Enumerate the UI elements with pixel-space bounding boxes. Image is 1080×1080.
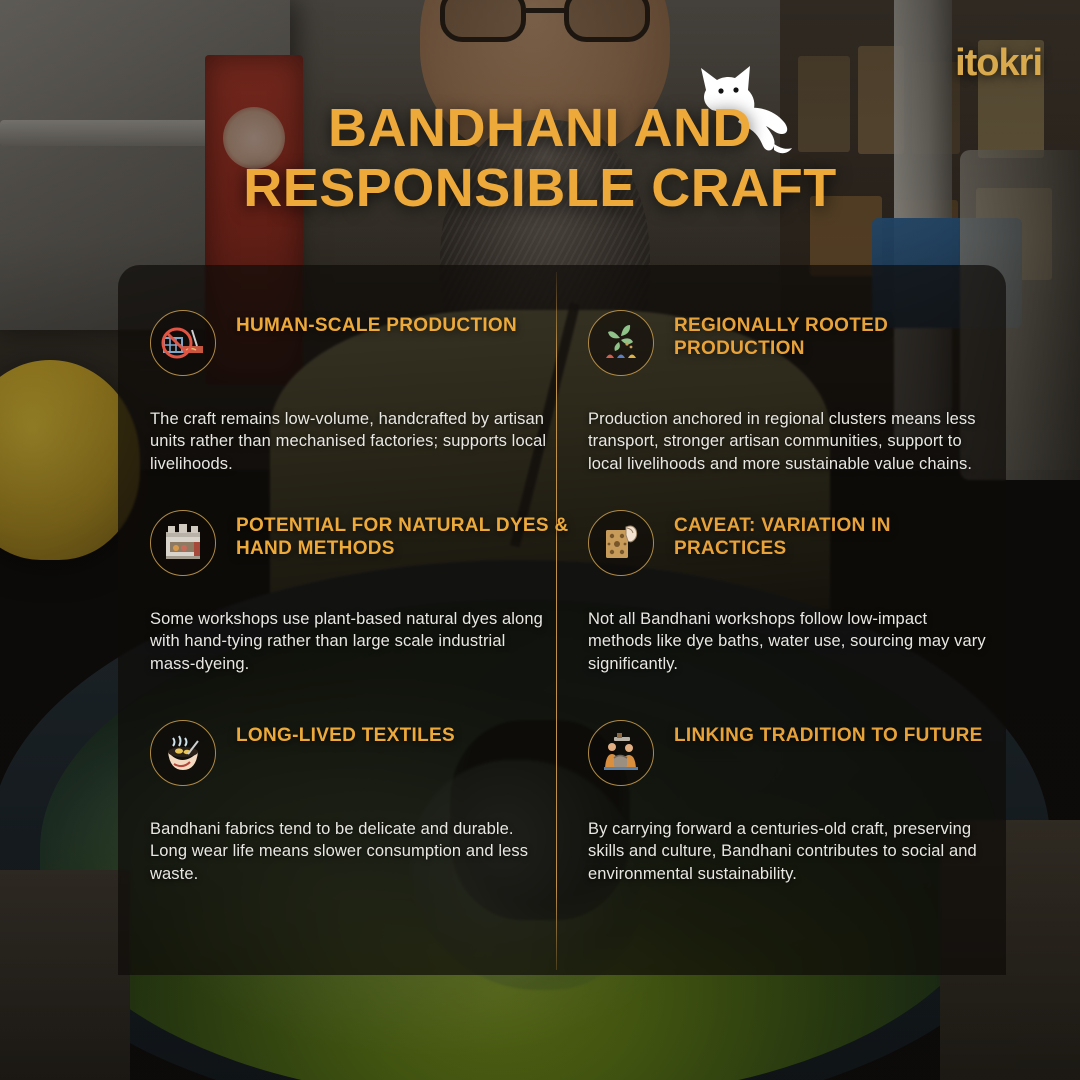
content-grid: HUMAN-SCALE PRODUCTION The craft remains… <box>118 265 1006 975</box>
two-artisans-working-icon <box>588 720 654 786</box>
item-title: POTENTIAL FOR NATURAL DYES & HAND METHOD… <box>236 510 570 560</box>
hand-holding-patterned-fabric-icon <box>588 510 654 576</box>
workshop-building-icon <box>150 510 216 576</box>
list-item: CAVEAT: VARIATION IN PRACTICES Not all B… <box>588 510 1008 675</box>
list-item: POTENTIAL FOR NATURAL DYES & HAND METHOD… <box>150 510 570 675</box>
page-title-line-2: RESPONSIBLE CRAFT <box>0 158 1080 218</box>
no-factory-icon <box>150 310 216 376</box>
item-header: LONG-LIVED TEXTILES <box>150 720 570 792</box>
right-column: REGIONALLY ROOTED PRODUCTION Production … <box>562 265 1006 975</box>
item-body: Some workshops use plant-based natural d… <box>150 608 550 675</box>
item-header: REGIONALLY ROOTED PRODUCTION <box>588 310 1008 382</box>
item-title: LONG-LIVED TEXTILES <box>236 720 570 747</box>
item-header: HUMAN-SCALE PRODUCTION <box>150 310 570 382</box>
item-title: HUMAN-SCALE PRODUCTION <box>236 310 570 337</box>
item-header: CAVEAT: VARIATION IN PRACTICES <box>588 510 1008 582</box>
steaming-dye-pot-icon <box>150 720 216 786</box>
item-body: Bandhani fabrics tend to be delicate and… <box>150 818 550 885</box>
list-item: REGIONALLY ROOTED PRODUCTION Production … <box>588 310 1008 475</box>
list-item: HUMAN-SCALE PRODUCTION The craft remains… <box>150 310 570 475</box>
item-body: By carrying forward a centuries-old craf… <box>588 818 988 885</box>
left-column: HUMAN-SCALE PRODUCTION The craft remains… <box>118 265 562 975</box>
page-title: BANDHANI AND RESPONSIBLE CRAFT <box>0 98 1080 219</box>
item-header: POTENTIAL FOR NATURAL DYES & HAND METHOD… <box>150 510 570 582</box>
item-header: LINKING TRADITION TO FUTURE <box>588 720 1008 792</box>
page-title-line-1: BANDHANI AND <box>328 98 752 158</box>
item-body: The craft remains low-volume, handcrafte… <box>150 408 550 475</box>
list-item: LINKING TRADITION TO FUTURE By carrying … <box>588 720 1008 885</box>
item-body: Production anchored in regional clusters… <box>588 408 988 475</box>
item-body: Not all Bandhani workshops follow low-im… <box>588 608 988 675</box>
brand-logo-itokri: itokri <box>955 42 1042 85</box>
item-title: REGIONALLY ROOTED PRODUCTION <box>674 310 1008 360</box>
infographic-poster: itokri BANDHANI AND RESPONSIBLE CRAFT <box>0 0 1080 1080</box>
item-title: LINKING TRADITION TO FUTURE <box>674 720 1008 747</box>
leaves-and-dye-powders-icon <box>588 310 654 376</box>
item-title: CAVEAT: VARIATION IN PRACTICES <box>674 510 1008 560</box>
list-item: LONG-LIVED TEXTILES Bandhani fabrics ten… <box>150 720 570 885</box>
